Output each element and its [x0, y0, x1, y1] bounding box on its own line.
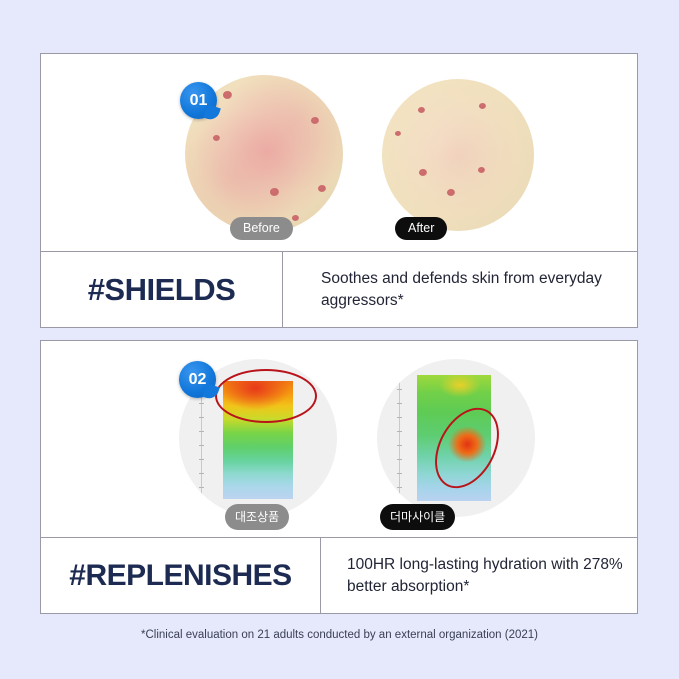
skin-spot [447, 189, 455, 196]
step-badge-02: 02 [179, 361, 216, 398]
promo-page: 01 Before After #SHIELDS Soothes and def… [0, 0, 679, 679]
skin-spot [419, 169, 427, 176]
hashtag-shields: #SHIELDS [88, 272, 236, 308]
skin-spot [213, 135, 220, 141]
replenishes-hashtag-cell: #REPLENISHES [41, 538, 321, 614]
skin-spot [311, 117, 319, 124]
skin-spot [223, 91, 232, 99]
shields-description-cell: Soothes and defends skin from everyday a… [283, 252, 637, 328]
skin-spot [395, 131, 401, 136]
skin-photo-after [382, 79, 534, 231]
skin-spot [270, 188, 279, 196]
highlight-ellipse-control [215, 369, 317, 423]
skin-spot [318, 185, 326, 192]
replenishes-text-row: #REPLENISHES 100HR long-lasting hydratio… [41, 538, 637, 614]
skin-spot [479, 103, 486, 109]
image-label-control: 대조상품 [225, 504, 289, 530]
replenishes-description-cell: 100HR long-lasting hydration with 278% b… [321, 538, 637, 614]
image-label-before: Before [230, 217, 293, 240]
footnote: *Clinical evaluation on 21 adults conduc… [0, 629, 679, 641]
step-badge-01: 01 [180, 82, 217, 119]
description-replenishes: 100HR long-lasting hydration with 278% b… [347, 554, 637, 599]
replenishes-visual-row: 02 대조상품 더마사이클 [41, 341, 637, 538]
shields-text-row: #SHIELDS Soothes and defends skin from e… [41, 252, 637, 328]
skin-spot [418, 107, 425, 113]
description-shields: Soothes and defends skin from everyday a… [321, 268, 637, 313]
skin-spot [292, 215, 299, 221]
panel-shields: 01 Before After #SHIELDS Soothes and def… [40, 53, 638, 328]
skin-spot [478, 167, 485, 173]
image-label-derma: 더마사이클 [380, 504, 455, 530]
hashtag-replenishes: #REPLENISHES [69, 559, 291, 593]
shields-visual-row: 01 Before After [41, 54, 637, 252]
shields-hashtag-cell: #SHIELDS [41, 252, 283, 328]
panel-replenishes: 02 대조상품 더마사이클 #REPLENISHES 100HR long-la… [40, 340, 638, 614]
image-label-after: After [395, 217, 447, 240]
thermal-axis [399, 375, 400, 501]
